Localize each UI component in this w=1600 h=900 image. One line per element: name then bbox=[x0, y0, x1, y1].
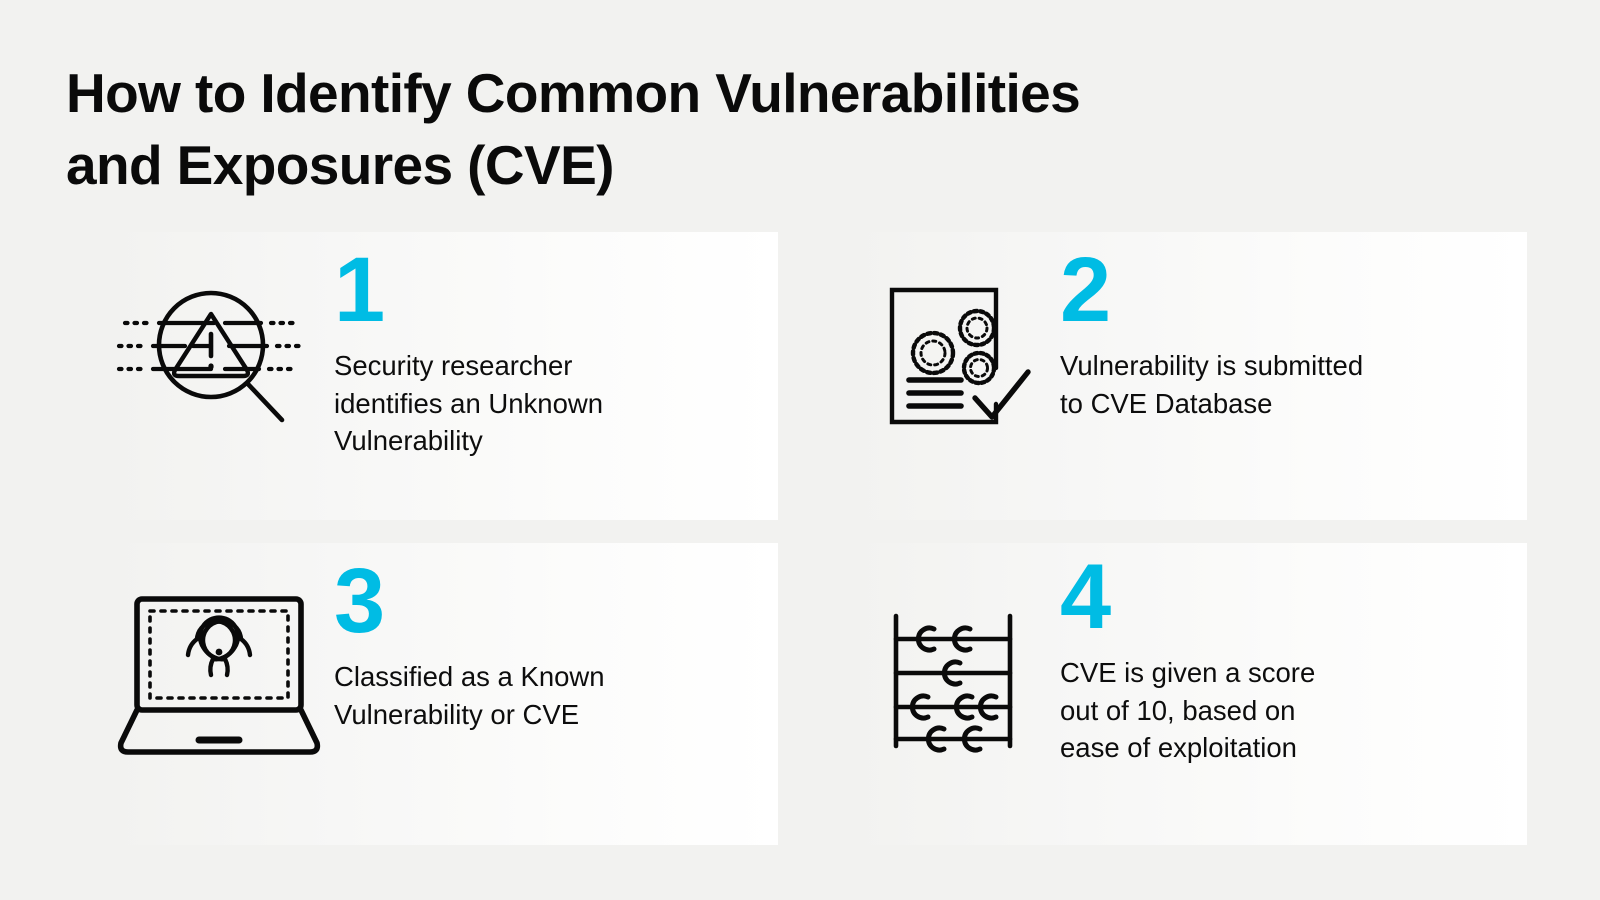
magnifier-warning-icon bbox=[104, 232, 334, 434]
abacus-icon bbox=[845, 543, 1060, 751]
step-3-body: 3 Classified as a Known Vulnerability or… bbox=[334, 543, 778, 733]
step-number-1: 1 bbox=[334, 250, 778, 331]
step-1-body: 1 Security researcher identifies an Unkn… bbox=[334, 232, 778, 460]
document-gears-check-icon bbox=[845, 232, 1060, 436]
step-text-1: Security researcher identifies an Unknow… bbox=[334, 347, 734, 460]
step-number-2: 2 bbox=[1060, 250, 1527, 331]
page-title: How to Identify Common Vulnerabilities a… bbox=[66, 58, 1266, 201]
step-number-4: 4 bbox=[1060, 557, 1527, 638]
laptop-biohazard-icon bbox=[104, 543, 334, 756]
step-card-1: 1 Security researcher identifies an Unkn… bbox=[104, 232, 778, 520]
step-number-3: 3 bbox=[334, 561, 778, 642]
step-4-body: 4 CVE is given a score out of 10, based … bbox=[1060, 543, 1527, 767]
step-2-body: 2 Vulnerability is submitted to CVE Data… bbox=[1060, 232, 1527, 422]
step-card-2: 2 Vulnerability is submitted to CVE Data… bbox=[845, 232, 1527, 520]
step-text-3: Classified as a Known Vulnerability or C… bbox=[334, 658, 734, 733]
step-text-2: Vulnerability is submitted to CVE Databa… bbox=[1060, 347, 1460, 422]
infographic-page: How to Identify Common Vulnerabilities a… bbox=[0, 0, 1600, 900]
step-text-4: CVE is given a score out of 10, based on… bbox=[1060, 654, 1460, 767]
step-card-3: 3 Classified as a Known Vulnerability or… bbox=[104, 543, 778, 845]
step-card-4: 4 CVE is given a score out of 10, based … bbox=[845, 543, 1527, 845]
